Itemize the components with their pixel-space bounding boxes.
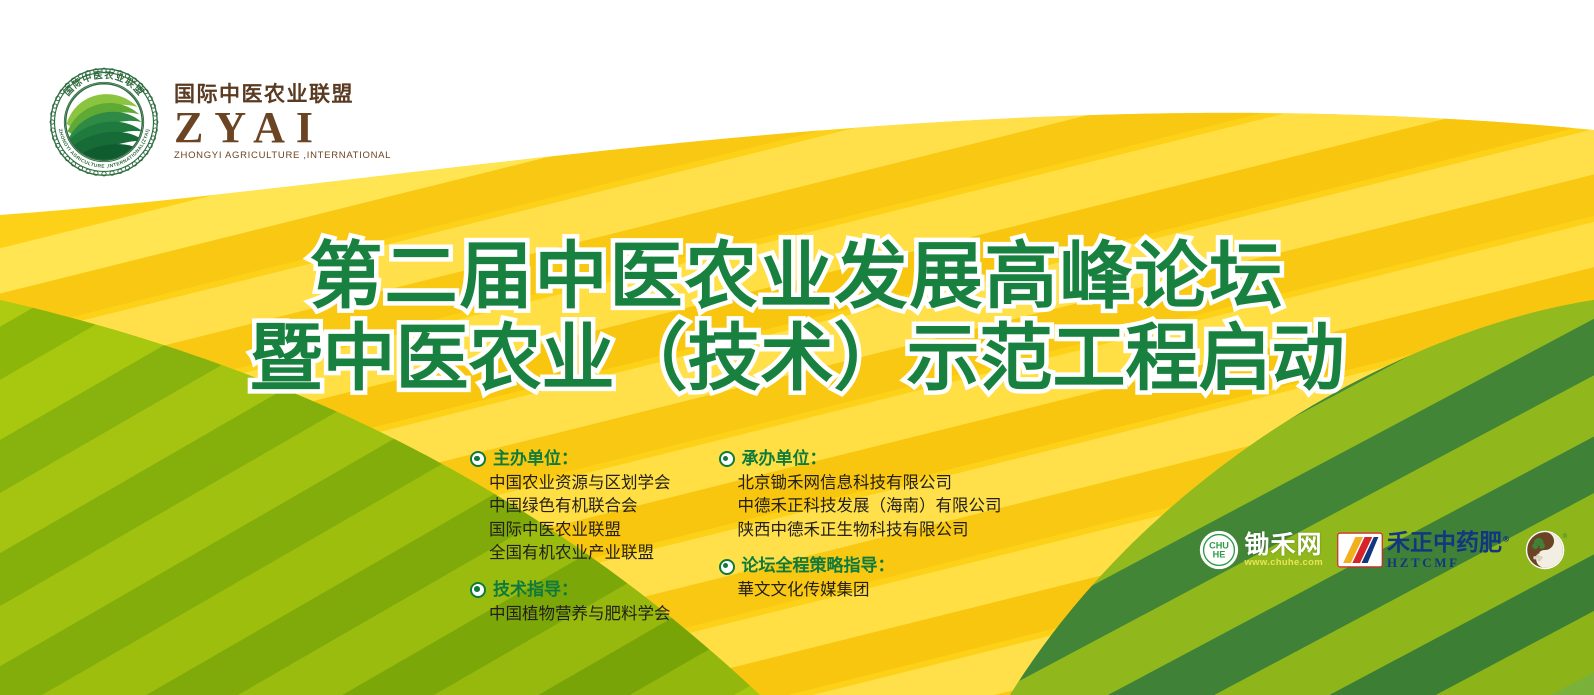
list-item: 中国植物营养与肥料学会 — [489, 602, 671, 625]
hz-stripe-icon — [1337, 532, 1383, 568]
list-item: 中德禾正科技发展（海南）有限公司 — [738, 494, 1002, 517]
organizer-info: 主办单位： 中国农业资源与区划学会 中国绿色有机联合会 国际中医农业联盟 全国有… — [470, 448, 1002, 625]
zyai-name-en: ZHONGYI AGRICULTURE ,INTERNATIONAL — [174, 151, 391, 161]
sponsor-chuhe: CHU HE 锄禾网 www.chuhe.com — [1199, 530, 1323, 570]
info-group-host: 主办单位： 中国农业资源与区划学会 中国绿色有机联合会 国际中医农业联盟 全国有… — [470, 448, 671, 565]
hezheng-wordmark: 禾正中药肥® HZTCMF — [1387, 532, 1510, 569]
title-line-2: 暨中医农业（技术）示范工程启动 — [0, 318, 1594, 400]
list-item: 中国农业资源与区划学会 — [489, 471, 671, 494]
info-heading-label: 主办单位： — [493, 448, 578, 471]
info-column-left: 主办单位： 中国农业资源与区划学会 中国绿色有机联合会 国际中医农业联盟 全国有… — [470, 448, 671, 625]
info-heading: 主办单位： — [470, 448, 671, 471]
list-item: 華文文化传媒集团 — [738, 578, 1002, 601]
info-heading: 技术指导： — [470, 579, 671, 602]
registered-mark: ® — [1502, 534, 1510, 543]
info-heading: 论坛全程策略指导： — [719, 555, 1002, 578]
info-column-right: 承办单位： 北京锄禾网信息科技有限公司 中德禾正科技发展（海南）有限公司 陕西中… — [719, 448, 1002, 625]
info-items: 北京锄禾网信息科技有限公司 中德禾正科技发展（海南）有限公司 陕西中德禾正生物科… — [738, 471, 1002, 541]
info-heading: 承办单位： — [719, 448, 1002, 471]
list-item: 北京锄禾网信息科技有限公司 — [738, 471, 1002, 494]
list-item: 全国有机农业产业联盟 — [489, 541, 671, 564]
zyai-acronym: ZYAI — [174, 107, 391, 149]
list-item: 中国绿色有机联合会 — [489, 494, 671, 517]
chuhe-circle-icon: CHU HE — [1199, 530, 1239, 570]
bullet-icon — [719, 559, 735, 575]
info-heading-label: 承办单位： — [742, 448, 827, 471]
info-heading-label: 论坛全程策略指导： — [742, 555, 895, 578]
bullet-icon — [470, 451, 486, 467]
svg-text:HE: HE — [1213, 550, 1226, 560]
info-group-organizer: 承办单位： 北京锄禾网信息科技有限公司 中德禾正科技发展（海南）有限公司 陕西中… — [719, 448, 1002, 541]
sponsor-hezheng: 禾正中药肥® HZTCMF — [1337, 532, 1510, 569]
chuhe-name-cn: 锄禾网 — [1244, 532, 1323, 557]
page-title: 第二届中医农业发展高峰论坛 暨中医农业（技术）示范工程启动 — [0, 236, 1594, 400]
hezheng-name-en: HZTCMF — [1387, 556, 1510, 569]
list-item: 国际中医农业联盟 — [489, 518, 671, 541]
chuhe-wordmark: 锄禾网 www.chuhe.com — [1244, 532, 1323, 568]
info-group-tech-guidance: 技术指导： 中国植物营养与肥料学会 — [470, 579, 671, 625]
zyai-name-cn: 国际中医农业联盟 — [174, 84, 391, 105]
info-items: 中国农业资源与区划学会 中国绿色有机联合会 国际中医农业联盟 全国有机农业产业联… — [489, 471, 671, 565]
info-heading-label: 技术指导： — [493, 579, 578, 602]
sponsor-logos: CHU HE 锄禾网 www.chuhe.com 禾正中药肥® HZTCMF — [1199, 528, 1568, 572]
zyai-logo-lockup: 国际中医农业联盟 ZHONGYI AGRICULTURE ,INTERNATIO… — [48, 66, 391, 178]
bullet-icon — [719, 451, 735, 467]
hezheng-name-cn: 禾正中药肥® — [1387, 532, 1510, 555]
title-line-1: 第二届中医农业发展高峰论坛 — [0, 236, 1594, 318]
svg-text:®: ® — [1563, 532, 1568, 540]
chuhe-url: www.chuhe.com — [1244, 558, 1323, 568]
zyai-seal-icon: 国际中医农业联盟 ZHONGYI AGRICULTURE ,INTERNATIO… — [48, 66, 160, 178]
zyai-wordmark: 国际中医农业联盟 ZYAI ZHONGYI AGRICULTURE ,INTER… — [174, 84, 391, 160]
yinyang-tree-icon: ® — [1524, 528, 1568, 572]
info-items: 華文文化传媒集团 — [738, 578, 1002, 601]
list-item: 陕西中德禾正生物科技有限公司 — [738, 518, 1002, 541]
conference-banner: 国际中医农业联盟 ZHONGYI AGRICULTURE ,INTERNATIO… — [0, 0, 1594, 695]
info-group-strategy-guidance: 论坛全程策略指导： 華文文化传媒集团 — [719, 555, 1002, 601]
info-items: 中国植物营养与肥料学会 — [489, 602, 671, 625]
bullet-icon — [470, 582, 486, 598]
